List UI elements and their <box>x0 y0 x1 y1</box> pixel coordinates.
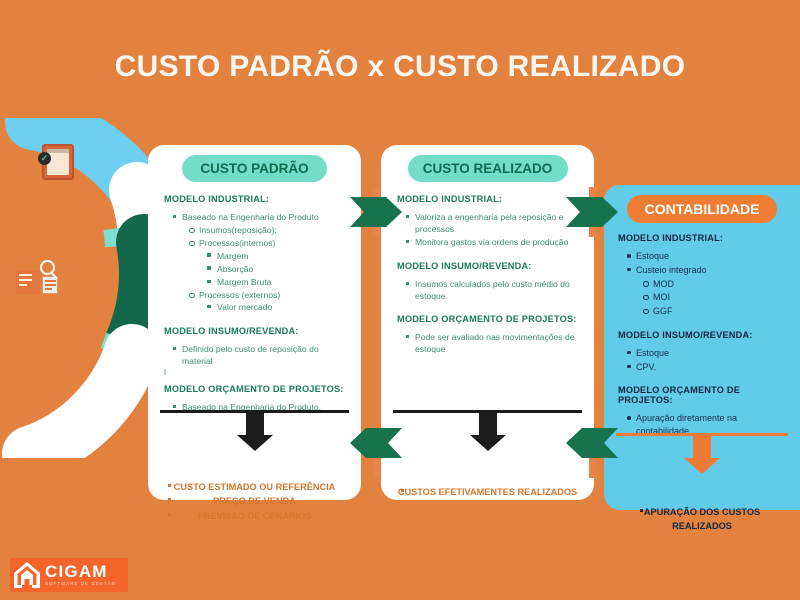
list-item: MOI <box>653 291 788 304</box>
outcomes-contabilidade: APURAÇÃO DOS CUSTOS REALIZADOS <box>604 505 800 534</box>
chevron-left-icon <box>566 428 618 458</box>
list-item: Margem Bruta <box>217 276 347 288</box>
chevron-right-icon <box>350 197 402 227</box>
outcome-label: PREVISAO DE CENÁRIOS <box>198 511 312 521</box>
section-heading-insumo-revenda: MODELO INSUMO/REVENDA: <box>618 330 788 340</box>
list-insumo-revenda: Estoque CPV. <box>636 347 788 374</box>
list-insumo-revenda: Definido pelo custo de reposição do mate… <box>182 343 347 367</box>
page-title: CUSTO PADRÃO x CUSTO REALIZADO <box>0 50 800 84</box>
list-item-label: Processos (externos) <box>199 290 280 300</box>
list-item-label: Custeio integrado <box>636 265 707 275</box>
list-item: Definido pelo custo de reposição do mate… <box>182 343 347 367</box>
chevron-contabilidade-to-realizado-bottom <box>566 428 618 458</box>
list-industrial: Valoriza a engenharia pela reposição e p… <box>415 211 580 249</box>
chevron-left-icon <box>350 428 402 458</box>
card-custo-realizado: CUSTO REALIZADO MODELO INDUSTRIAL: Valor… <box>381 145 594 500</box>
section-heading-industrial: MODELO INDUSTRIAL: <box>164 194 347 204</box>
card-padrao-body: MODELO INDUSTRIAL: Baseado na Engenharia… <box>148 182 361 413</box>
section-heading-industrial: MODELO INDUSTRIAL: <box>618 233 788 243</box>
list-industrial: Estoque Custeio integrado MOD MOI GGF <box>636 250 788 318</box>
chevron-padrao-to-realizado-top <box>350 197 402 227</box>
cigam-logo-mark-icon <box>12 560 42 590</box>
chevron-realizado-to-contabilidade-top <box>566 197 618 227</box>
chevron-realizado-to-padrao-bottom <box>350 428 402 458</box>
list-item: Processos(internos) Margem Absorção Marg… <box>199 237 347 288</box>
list-item: Pode ser avaliado nas movimentações de e… <box>415 331 580 355</box>
section-heading-orcamento-projetos: MODELO ORÇAMENTO DE PROJETOS: <box>618 385 788 405</box>
list-item: Absorção <box>217 263 347 275</box>
section-heading-orcamento-projetos: MODELO ORÇAMENTO DE PROJETOS: <box>164 384 347 394</box>
list-item: CPV. <box>636 361 788 374</box>
list-orcamento-projetos: Pode ser avaliado nas movimentações de e… <box>415 331 580 355</box>
sublist-custeio-integrado: MOD MOI GGF <box>653 278 788 318</box>
outcomes-realizado: CUSTOS EFETIVAMENTES REALIZADOS <box>381 485 594 499</box>
clipboard-sheet <box>47 149 69 175</box>
section-heading-orcamento-projetos: MODELO ORÇAMENTO DE PROJETOS: <box>397 314 580 324</box>
process-cycle-ring: ✓ BI <box>0 118 148 458</box>
list-item: Valoriza a engenharia pela reposição e p… <box>415 211 580 235</box>
cigam-logo-tagline: SOFTWARE DE GESTÃO <box>45 582 116 586</box>
outcome-item: PREÇO DE VENDA <box>162 494 347 508</box>
list-item: Insumos calculados pelo custo médio do e… <box>415 278 580 302</box>
clipboard-check-icon: ✓ <box>42 144 74 180</box>
arrow-stem <box>246 413 264 435</box>
list-item-label: Baseado na Engenharia do Produto <box>182 212 319 222</box>
outcome-label: CUSTOS EFETIVAMENTES REALIZADOS <box>398 487 577 497</box>
cigam-logo-name: CIGAM <box>45 563 116 580</box>
list-item: Estoque <box>636 250 788 263</box>
cigam-mark-svg <box>12 560 42 590</box>
outcome-item: PREVISAO DE CENÁRIOS <box>162 509 347 523</box>
cigam-logo-text: CIGAM SOFTWARE DE GESTÃO <box>45 563 116 586</box>
section-heading-insumo-revenda: MODELO INSUMO/REVENDA: <box>397 261 580 271</box>
down-arrow-contabilidade <box>604 433 800 458</box>
ring-segment-white-bottom <box>30 352 132 454</box>
outcome-label: PREÇO DE VENDA <box>213 496 296 506</box>
outcome-item: CUSTO ESTIMADO OU REFERÊNCIA <box>162 480 347 494</box>
list-item: Margem <box>217 250 347 262</box>
outcome-item: CUSTOS EFETIVAMENTES REALIZADOS <box>395 485 580 499</box>
section-heading-insumo-revenda: MODELO INSUMO/REVENDA: <box>164 326 347 336</box>
list-item-label: Processos(internos) <box>199 238 275 248</box>
badge-custo-padrao: CUSTO PADRÃO <box>182 155 327 182</box>
sublist-processos-externos: Valor mercado <box>217 301 347 313</box>
list-item: Insumos(reposição); <box>199 224 347 236</box>
down-arrow-realizado <box>381 410 594 435</box>
list-item: Monitora gastos via ordens de produção <box>415 236 580 248</box>
card-contabilidade: CONTABILIDADE MODELO INDUSTRIAL: Estoque… <box>604 185 800 510</box>
documents-search-icon <box>16 268 60 296</box>
check-circle-icon: ✓ <box>38 152 51 165</box>
arrow-stem <box>479 413 497 435</box>
arrow-stem <box>693 436 711 458</box>
sublist-industrial: Insumos(reposição); Processos(internos) … <box>199 224 347 313</box>
outcomes-padrao: CUSTO ESTIMADO OU REFERÊNCIA PREÇO DE VE… <box>148 480 361 523</box>
list-item: MOD <box>653 278 788 291</box>
list-industrial: Baseado na Engenharia do Produto Insumos… <box>182 211 347 314</box>
outcome-label: APURAÇÃO DOS CUSTOS REALIZADOS <box>644 507 760 531</box>
badge-custo-realizado: CUSTO REALIZADO <box>408 155 568 182</box>
stray-text-fragment: l <box>164 368 347 377</box>
card-realizado-body: MODELO INDUSTRIAL: Valoriza a engenharia… <box>381 182 594 355</box>
list-item: GGF <box>653 305 788 318</box>
list-item: Processos (externos) Valor mercado <box>199 289 347 313</box>
sublist-processos-internos: Margem Absorção Margem Bruta <box>217 250 347 289</box>
card-contabilidade-body: MODELO INDUSTRIAL: Estoque Custeio integ… <box>604 223 800 438</box>
outcome-item: APURAÇÃO DOS CUSTOS REALIZADOS <box>618 505 786 534</box>
badge-contabilidade: CONTABILIDADE <box>627 195 777 223</box>
document-icon-primary <box>16 270 40 294</box>
cigam-logo: CIGAM SOFTWARE DE GESTÃO <box>10 558 128 592</box>
section-heading-industrial: MODELO INDUSTRIAL: <box>397 194 580 204</box>
list-item: Custeio integrado MOD MOI GGF <box>636 264 788 318</box>
list-item: Estoque <box>636 347 788 360</box>
card-custo-padrao: CUSTO PADRÃO MODELO INDUSTRIAL: Baseado … <box>148 145 361 500</box>
list-item: Valor mercado <box>217 301 347 313</box>
down-arrow-padrao <box>148 410 361 435</box>
outcome-label: CUSTO ESTIMADO OU REFERÊNCIA <box>174 482 336 492</box>
list-insumo-revenda: Insumos calculados pelo custo médio do e… <box>415 278 580 302</box>
list-item: Baseado na Engenharia do Produto Insumos… <box>182 211 347 314</box>
magnifier-icon <box>40 260 55 275</box>
chevron-right-icon <box>566 197 618 227</box>
